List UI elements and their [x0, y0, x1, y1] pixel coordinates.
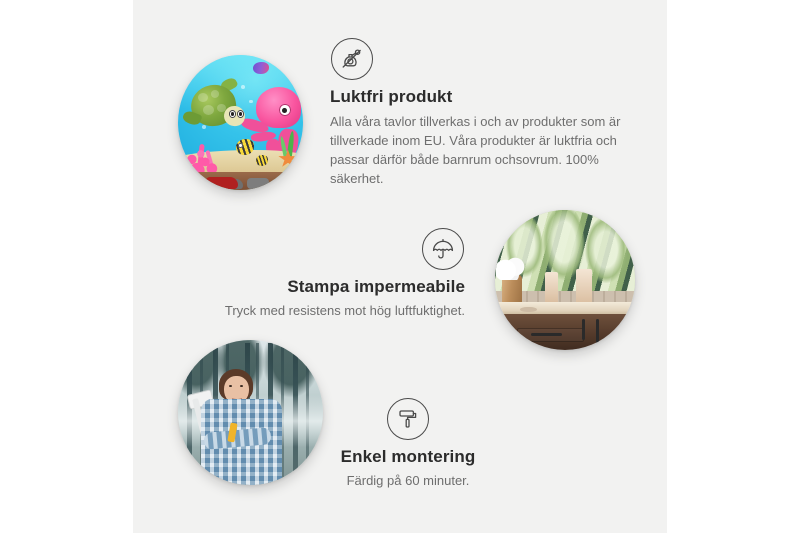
feature-body: Färdig på 60 minuter. — [318, 472, 498, 491]
painter-forest-photo — [178, 340, 323, 485]
page-root: Luktfri produkt Alla våra tavlor tillver… — [0, 0, 800, 533]
feature-odorless: Luktfri produkt Alla våra tavlor tillver… — [330, 38, 630, 188]
feature-title: Enkel montering — [318, 447, 498, 467]
umbrella-icon — [422, 228, 464, 270]
paint-roller-icon — [387, 398, 429, 440]
feature-title: Stampa impermeabile — [190, 277, 465, 297]
feature-waterproof: Stampa impermeabile Tryck med resistens … — [190, 228, 465, 320]
feature-body: Alla våra tavlor tillverkas i och av pro… — [330, 112, 630, 189]
no-fragrance-icon — [331, 38, 373, 80]
bathroom-wallpaper-photo — [495, 210, 635, 350]
feature-assembly: Enkel montering Färdig på 60 minuter. — [318, 398, 498, 490]
feature-title: Luktfri produkt — [330, 87, 630, 107]
underwater-cartoon-photo — [178, 55, 303, 190]
feature-body: Tryck med resistens mot hög luftfuktighe… — [190, 302, 465, 321]
